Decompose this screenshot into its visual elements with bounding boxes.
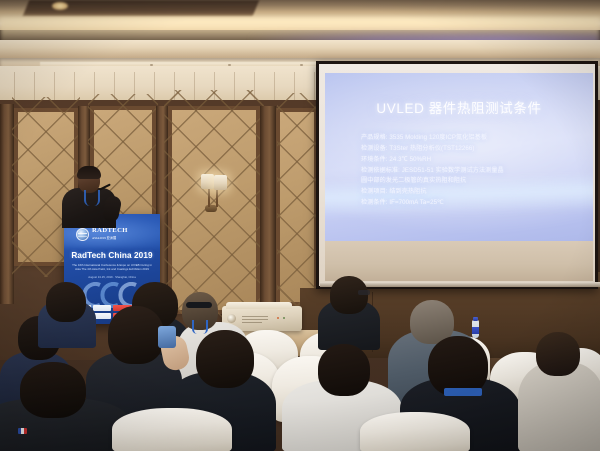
- podium-event-title: RadTech China 2019: [64, 251, 160, 260]
- slide-line: 检测项目: 结到壳热阻抗: [361, 187, 579, 198]
- lanyard: [192, 320, 208, 334]
- logo-line1: RADTECH: [92, 228, 128, 235]
- slide-line: 检测依据标准: JESD51-51 实验数学测试方法测量晶: [361, 166, 579, 177]
- slide-line: 环境条件: 24.3℃ 50%RH: [361, 155, 579, 166]
- slide-line: 检测条件: IF=700mA Ta=25℃: [361, 198, 579, 209]
- screen-surface: UVLED 器件热阻测试条件 产品规格: 3535 Molding 120度IC…: [319, 64, 595, 286]
- smartphone-icon[interactable]: [158, 326, 176, 348]
- sponsor-logo: [93, 305, 112, 311]
- projected-slide: UVLED 器件热阻测试条件 产品规格: 3535 Molding 120度IC…: [325, 73, 593, 241]
- radtech-logo: RADTECH ASIA2019 亚洲展: [76, 228, 128, 241]
- podium-event-subtitle: The 16th International Conference & Expo…: [70, 263, 154, 271]
- lanyard: [444, 388, 482, 396]
- water-bottle: [472, 320, 479, 338]
- slide-line: 圆中部的发光二极管的真实热阻和阻抗: [361, 176, 579, 187]
- wall-sconce-lamp-icon: [214, 175, 227, 190]
- sunglasses-icon: [186, 302, 212, 308]
- wall-sconce-lamp-icon: [201, 174, 214, 189]
- conference-chair: [360, 412, 470, 451]
- flag-badge-icon: [18, 428, 27, 434]
- slide-line: 检测设备: T3Ster 热阻分析仪(TST12266): [361, 144, 579, 155]
- globe-icon: [76, 228, 89, 241]
- speaker-lanyard: [84, 190, 100, 206]
- slide-body-text: 产品规格: 3535 Molding 120度ICP氮化铝基板 检测设备: T3…: [361, 133, 579, 209]
- logo-line2-sub: 2019 亚洲展: [99, 236, 116, 240]
- projector-lens-icon: [227, 314, 236, 323]
- ceiling-downlight-icon: [52, 2, 68, 10]
- eyeglasses-icon: [358, 290, 370, 295]
- screen-blank-area: [325, 241, 593, 281]
- slide-title: UVLED 器件热阻测试条件: [325, 97, 593, 117]
- wall-panel-lattice: [280, 112, 314, 302]
- conference-chair: [112, 408, 232, 451]
- conference-room-photo: UVLED 器件热阻测试条件 产品规格: 3535 Molding 120度IC…: [0, 0, 600, 451]
- wall-pilaster: [260, 106, 276, 326]
- slide-line: 产品规格: 3535 Molding 120度ICP氮化铝基板: [361, 133, 579, 144]
- podium-event-date: August 13-15, 2019 · Shanghai, China: [64, 275, 160, 279]
- projection-screen: UVLED 器件热阻测试条件 产品规格: 3535 Molding 120度IC…: [316, 61, 598, 289]
